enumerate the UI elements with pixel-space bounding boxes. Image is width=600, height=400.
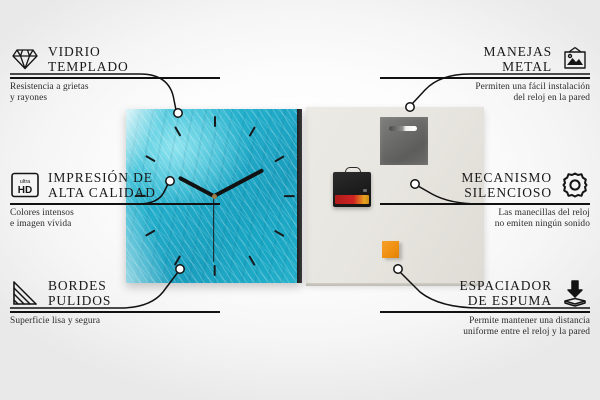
silent-clock-mechanism <box>333 167 371 207</box>
feature-subtitle: Permite mantener una distancia uniforme … <box>380 316 590 339</box>
divider <box>380 311 590 313</box>
clock-tick <box>214 116 216 127</box>
foam-spacer-icon <box>560 278 590 308</box>
feature-subtitle: Superficie lisa y segura <box>10 316 220 327</box>
feature-title: BORDES PULIDOS <box>48 278 111 308</box>
mechanism-body <box>333 172 371 207</box>
gear-icon <box>560 170 590 200</box>
product-infographic: VIDRIO TEMPLADO Resistencia a grietas y … <box>0 0 600 400</box>
feature-title: ESPACIADOR DE ESPUMA <box>459 278 552 308</box>
feature-title: MECANISMO SILENCIOSO <box>461 170 552 200</box>
polished-edges-icon <box>10 278 40 308</box>
feature-vidrio-templado: VIDRIO TEMPLADO Resistencia a grietas y … <box>10 44 220 104</box>
feature-mecanismo-silencioso: MECANISMO SILENCIOSO Las manecillas del … <box>380 170 590 230</box>
feature-subtitle: Permiten una fácil instalación del reloj… <box>380 82 590 105</box>
orange-foam-spacer <box>382 241 399 258</box>
battery-label <box>335 195 369 204</box>
divider <box>380 203 590 205</box>
hanger-keyhole-slot <box>389 126 417 131</box>
mechanism-label-dot <box>363 189 367 192</box>
divider <box>10 311 220 313</box>
feature-subtitle: Resistencia a grietas y rayones <box>10 82 220 105</box>
svg-text:HD: HD <box>18 185 32 196</box>
divider <box>10 203 220 205</box>
feature-title: IMPRESIÓN DE ALTA CALIDAD <box>48 170 156 200</box>
clock-tick <box>284 195 295 197</box>
divider <box>380 77 590 79</box>
feature-espaciador-espuma: ESPACIADOR DE ESPUMA Permite mantener un… <box>380 278 590 338</box>
feature-title: MANEJAS METAL <box>483 44 552 74</box>
feature-subtitle: Las manecillas del reloj no emiten ningú… <box>380 208 590 231</box>
divider <box>10 77 220 79</box>
metal-hanger-plate <box>380 117 428 165</box>
feature-manejas-metal: MANEJAS METAL Permiten una fácil instala… <box>380 44 590 104</box>
feature-bordes-pulidos: BORDES PULIDOS Superficie lisa y segura <box>10 278 220 327</box>
feature-impresion-alta-calidad: ultra HD IMPRESIÓN DE ALTA CALIDAD Color… <box>10 170 220 230</box>
clock-tick <box>214 265 216 276</box>
picture-frame-icon <box>560 44 590 74</box>
clock-side-edge <box>297 109 302 283</box>
feature-subtitle: Colores intensos e imagen vívida <box>10 208 220 231</box>
feature-title: VIDRIO TEMPLADO <box>48 44 129 74</box>
ultra-hd-icon: ultra HD <box>10 170 40 200</box>
diamond-icon <box>10 44 40 74</box>
